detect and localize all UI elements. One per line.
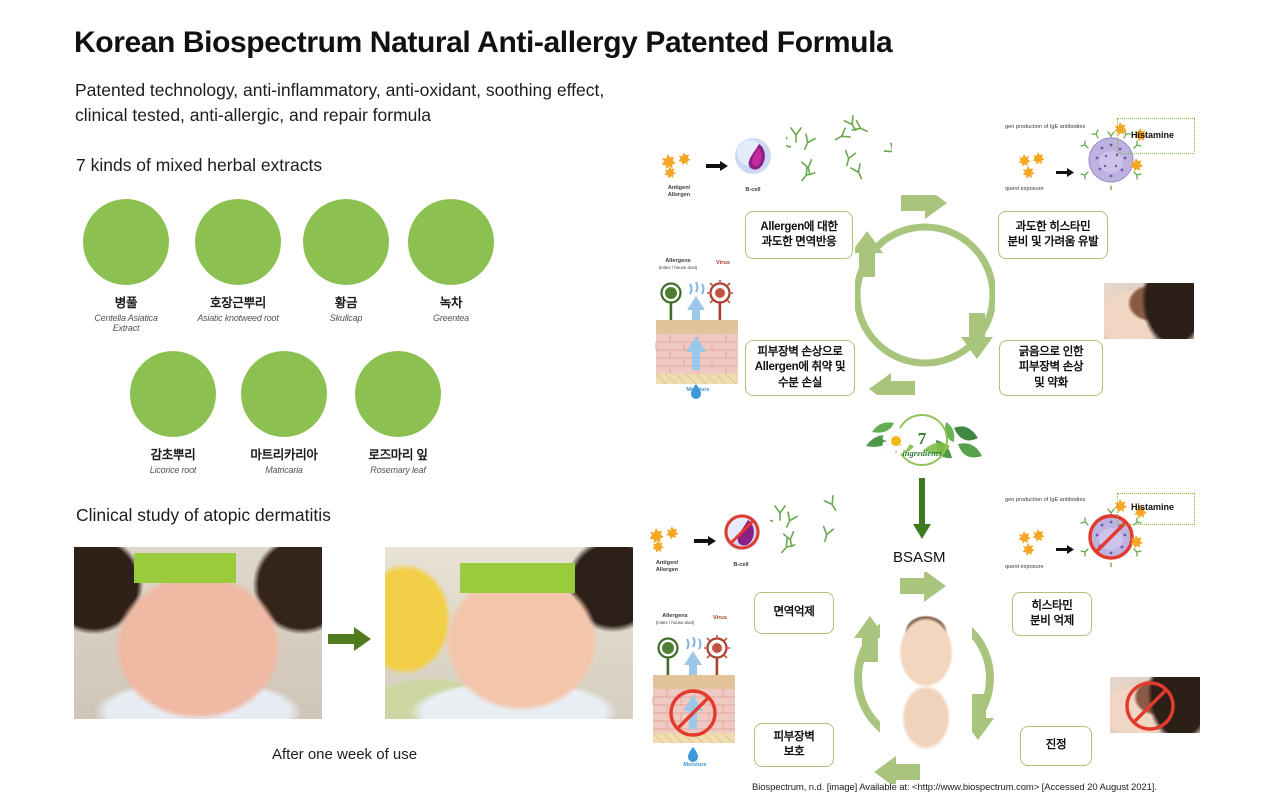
scratching-blocked-photo	[1110, 677, 1200, 733]
b-cell-icon	[733, 136, 773, 181]
herb-item: 병풀 Centella Asiatica Extract	[80, 199, 172, 333]
herb-name-kr: 호장근뿌리	[192, 292, 284, 311]
herb-name-kr: 병풀	[80, 292, 172, 311]
benefit-box-soothing: 진정	[1020, 726, 1092, 766]
herb-image-greentea	[408, 199, 494, 285]
herb-image-licorice	[130, 351, 216, 437]
skin-moisture-label: Moisture	[678, 387, 718, 394]
antigen-label: Antigen/Allergen	[643, 560, 691, 574]
skin-virus-label: Virus	[706, 260, 740, 267]
progress-arrow	[328, 626, 372, 657]
benefit-box-histamine-suppression: 히스타민 분비 억제	[1012, 592, 1092, 636]
allergen-dots-icon	[1018, 150, 1052, 185]
privacy-bar	[134, 553, 236, 583]
herb-item: 황금 Skullcap	[300, 199, 392, 323]
page-title: Korean Biospectrum Natural Anti-allergy …	[74, 26, 974, 61]
benefit-box-barrier-protection: 피부장벽 보호	[754, 723, 834, 767]
histamine-label: Histamine	[1131, 130, 1174, 140]
privacy-bar	[460, 563, 575, 593]
clinical-photo-after	[385, 547, 633, 719]
b-cell-label: B-cell	[719, 562, 763, 569]
scratching-photo	[1104, 283, 1194, 339]
clinical-heading: Clinical study of atopic dermatitis	[76, 505, 331, 526]
allergen-dots-icon	[1018, 527, 1052, 562]
svg-text:7: 7	[918, 429, 927, 448]
herb-item: 녹차 Greentea	[405, 199, 497, 323]
herb-image-centella	[83, 199, 169, 285]
histamine-label: Histamine	[1131, 502, 1174, 512]
herb-item: 마트리카리아 Matricaria	[238, 351, 330, 475]
herb-item: 감초뿌리 Licorice root	[127, 351, 219, 475]
herb-name-kr: 로즈마리 잎	[352, 444, 444, 463]
ige-antibody-cluster-icon	[770, 486, 856, 561]
skin-allergens-label: Allergens(mites / house dust)	[652, 258, 704, 272]
herb-image-knotweed	[195, 199, 281, 285]
allergy-cycle-diagram	[855, 195, 995, 400]
bsasm-label: BSASM	[893, 549, 946, 566]
cycle-box-text: 피부장벽 손상으로 Allergen에 취약 및 수분 손실	[755, 345, 846, 391]
herb-name-en: Matricaria	[238, 465, 330, 475]
clinical-photo-before	[74, 547, 322, 719]
b-cell-label: B-cell	[731, 187, 775, 194]
cycle-box-excessive-immune-response: Allergen에 대한 과도한 면역반응	[745, 211, 853, 259]
arrow-right-icon	[1056, 541, 1074, 559]
herb-item: 로즈마리 잎 Rosemary leaf	[352, 351, 444, 475]
skin-barrier-diagram-damaged	[648, 262, 746, 407]
cycle-box-text: Allergen에 대한 과도한 면역반응	[760, 220, 837, 250]
benefit-box-text: 히스타민 분비 억제	[1030, 599, 1074, 629]
subsequent-exposure-caption: quent exposure	[1005, 564, 1085, 571]
benefit-box-text: 면역억제	[773, 605, 814, 620]
herb-name-kr: 녹차	[405, 292, 497, 311]
skin-virus-label: Virus	[703, 615, 737, 622]
skin-barrier-diagram-protected	[645, 617, 743, 772]
herb-item: 호장근뿌리 Asiatic knotweed root	[192, 199, 284, 323]
down-arrow-icon	[913, 478, 931, 545]
herb-name-en: Rosemary leaf	[352, 465, 444, 475]
arrow-right-icon	[694, 533, 716, 551]
arrow-right-icon	[706, 158, 728, 176]
page-subtitle: Patented technology, anti-inflammatory, …	[75, 78, 835, 129]
herb-image-skullcap	[303, 199, 389, 285]
subtitle-line-1: Patented technology, anti-inflammatory, …	[75, 78, 835, 103]
benefit-box-text: 피부장벽 보호	[773, 730, 814, 760]
antigen-allergen-icon	[648, 522, 688, 559]
source-citation: Biospectrum, n.d. [image] Available at: …	[752, 782, 1157, 793]
arrow-right-icon	[1056, 164, 1074, 182]
subsequent-exposure-caption: quent exposure	[1005, 186, 1085, 193]
subtitle-line-2: clinical tested, anti-allergic, and repa…	[75, 103, 835, 128]
benefit-box-immune-suppression: 면역억제	[754, 592, 834, 634]
cycle-box-text: 긁음으로 인한 피부장벽 손상 및 약화	[1019, 345, 1084, 391]
skin-allergens-label: Allergens(mites / house dust)	[649, 613, 701, 627]
herb-image-rosemary	[355, 351, 441, 437]
skin-moisture-label: Moisture	[675, 762, 715, 769]
herbs-heading: 7 kinds of mixed herbal extracts	[76, 155, 322, 176]
model-face-photo	[880, 608, 972, 756]
herb-name-en: Centella Asiatica Extract	[80, 313, 172, 333]
herb-name-kr: 감초뿌리	[127, 444, 219, 463]
cycle-box-barrier-damage: 피부장벽 손상으로 Allergen에 취약 및 수분 손실	[745, 340, 855, 396]
b-cell-blocked-icon	[721, 511, 763, 558]
benefit-box-text: 진정	[1046, 738, 1067, 753]
ige-antibody-cluster-icon	[786, 108, 892, 193]
herb-name-en: Licorice root	[127, 465, 219, 475]
herb-name-en: Skullcap	[300, 313, 392, 323]
herb-name-en: Asiatic knotweed root	[192, 313, 284, 323]
seven-ingredients-badge: 7 ingredients	[858, 410, 986, 477]
svg-text:ingredients: ingredients	[902, 448, 942, 458]
cycle-box-scratching-damage: 긁음으로 인한 피부장벽 손상 및 약화	[999, 340, 1103, 396]
antigen-allergen-icon	[660, 148, 700, 185]
herb-name-kr: 황금	[300, 292, 392, 311]
herb-name-kr: 마트리카리아	[238, 444, 330, 463]
clinical-caption: After one week of use	[272, 746, 417, 763]
herb-name-en: Greentea	[405, 313, 497, 323]
cycle-box-text: 과도한 히스타민 분비 및 가려움 유발	[1008, 220, 1099, 250]
antigen-label: Antigen/Allergen	[655, 185, 703, 199]
cycle-box-histamine-itch: 과도한 히스타민 분비 및 가려움 유발	[998, 211, 1108, 259]
herb-image-matricaria	[241, 351, 327, 437]
